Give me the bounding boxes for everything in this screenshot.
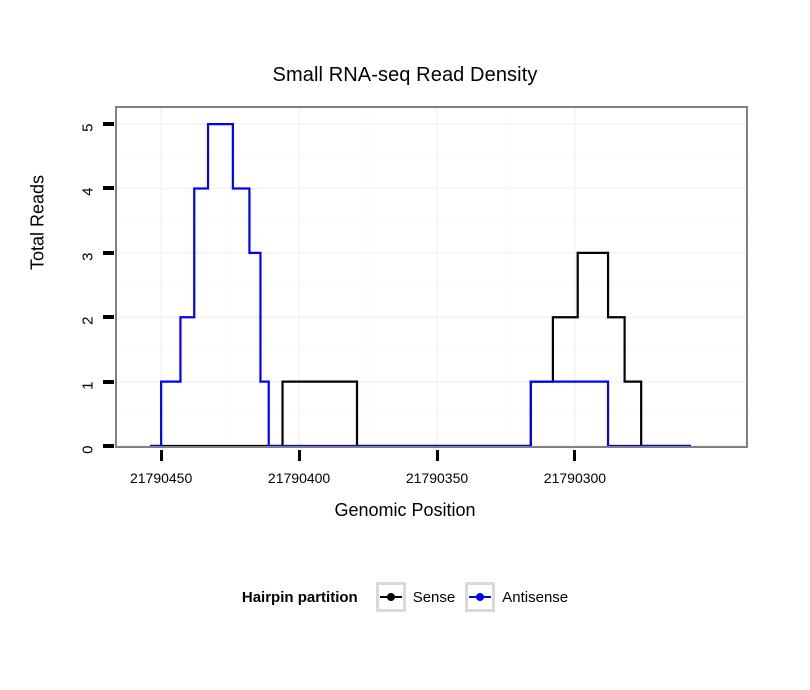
- y-tick-label: 3: [80, 252, 97, 312]
- y-tick-label: 5: [80, 124, 97, 184]
- x-tick-label: 21790300: [510, 470, 640, 486]
- chart-root: Small RNA-seq Read Density Total Reads G…: [0, 0, 810, 690]
- line-dot-icon: [380, 591, 402, 603]
- x-tick-mark: [436, 450, 439, 461]
- x-tick-mark: [573, 450, 576, 461]
- legend-item-sense[interactable]: Sense: [376, 582, 456, 612]
- line-dot-icon: [469, 591, 491, 603]
- x-tick-mark: [298, 450, 301, 461]
- x-tick-mark: [160, 450, 163, 461]
- y-tick-mark: [103, 122, 114, 126]
- y-tick-mark: [103, 251, 114, 255]
- y-tick-mark: [103, 186, 114, 190]
- y-tick-mark: [103, 380, 114, 384]
- x-tick-label: 21790350: [372, 470, 502, 486]
- y-tick-label: 4: [80, 188, 97, 248]
- legend-item-antisense[interactable]: Antisense: [465, 582, 568, 612]
- y-tick-label: 2: [80, 317, 97, 377]
- legend-key-antisense: [465, 582, 495, 612]
- series-line-antisense: [150, 124, 691, 446]
- y-tick-mark: [103, 444, 114, 448]
- legend: Hairpin partition Sense Antisense: [0, 582, 810, 612]
- y-tick-label: 1: [80, 381, 97, 441]
- legend-label-sense: Sense: [413, 589, 456, 606]
- legend-title: Hairpin partition: [242, 589, 358, 606]
- chart-title: Small RNA-seq Read Density: [0, 64, 810, 87]
- x-axis-title: Genomic Position: [0, 500, 810, 521]
- y-tick-mark: [103, 315, 114, 319]
- legend-key-sense: [376, 582, 406, 612]
- series-line-sense: [150, 253, 691, 446]
- plot-panel: [115, 106, 748, 448]
- data-series: [117, 108, 746, 446]
- x-tick-label: 21790400: [234, 470, 364, 486]
- x-tick-label: 21790450: [96, 470, 226, 486]
- y-tick-label: 0: [80, 446, 97, 506]
- plot-area: [117, 108, 746, 446]
- y-axis-title: Total Reads: [28, 123, 49, 323]
- legend-label-antisense: Antisense: [502, 589, 568, 606]
